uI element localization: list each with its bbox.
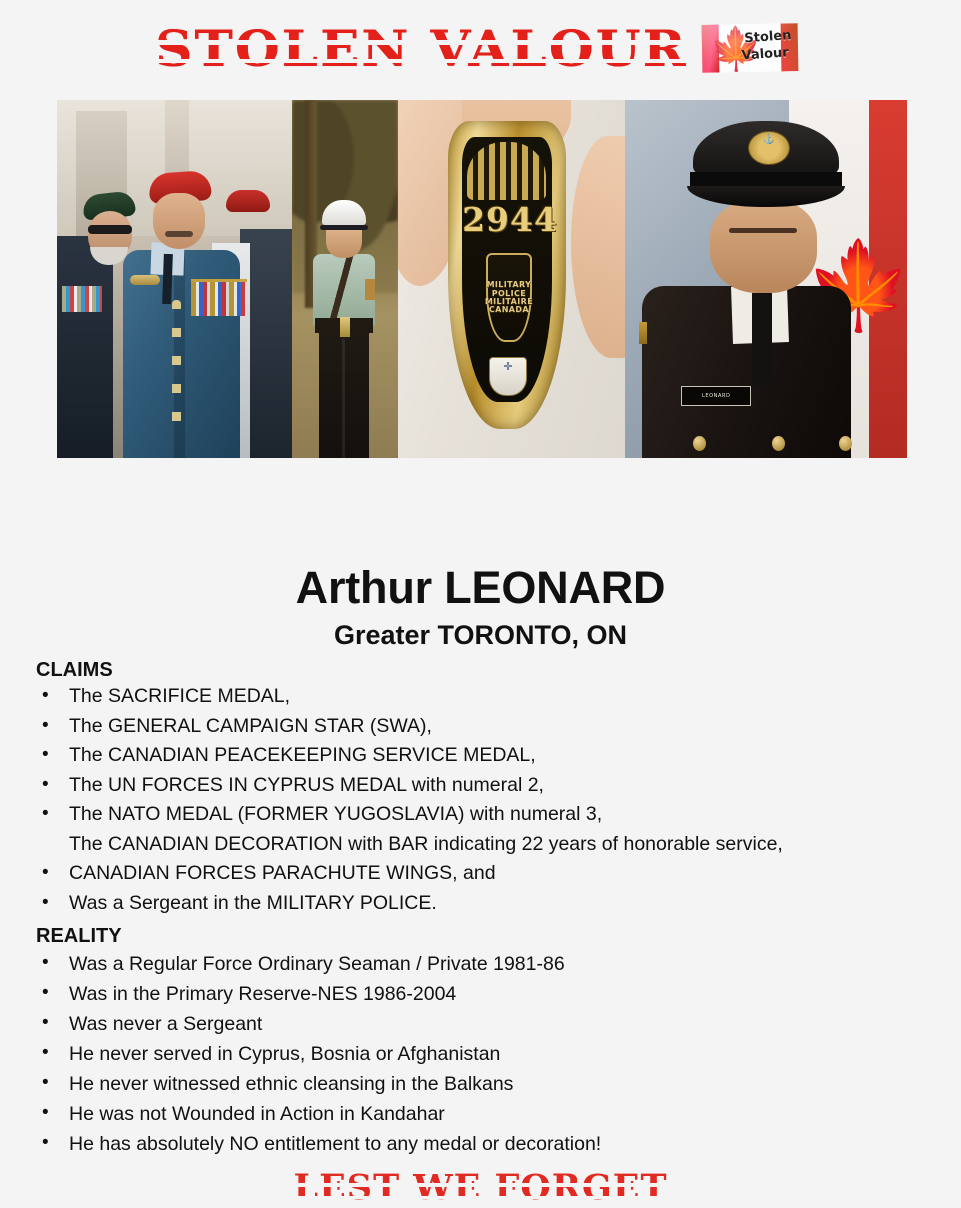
logo-text: Stolen Valour: [744, 27, 793, 64]
ring-number: 2944: [462, 200, 552, 239]
parachute-wings-icon: [130, 275, 160, 285]
photo-young-sailor: [292, 100, 398, 458]
portrait-necktie: [752, 293, 772, 386]
claim-item: The GENERAL CAMPAIGN STAR (SWA),: [36, 712, 961, 742]
claim-item: The CANADIAN PEACEKEEPING SERVICE MEDAL,: [36, 741, 961, 771]
nametag: LEONARD: [681, 386, 751, 406]
jacket-button-1: [693, 436, 706, 451]
uniform-belt: [315, 318, 372, 332]
subject-name: Arthur LEONARD: [0, 560, 961, 616]
claim-item: The SACRIFICE MEDAL,: [36, 682, 961, 712]
photo-strip: 2944 MILITARY POLICE MILITAIRE CANADA 🍁 …: [57, 100, 907, 458]
shield-line-4: CANADA: [489, 306, 529, 314]
portrait-face: [710, 200, 817, 293]
military-police-shield-icon: MILITARY POLICE MILITAIRE CANADA: [486, 253, 531, 342]
stolen-valour-logo: 🍁 Stolen Valour: [701, 23, 798, 73]
reality-heading: REALITY: [36, 925, 961, 948]
shoulder-strap: [324, 254, 360, 326]
claim-item: Was a Sergeant in the MILITARY POLICE.: [36, 889, 961, 919]
nametag-label: LEONARD: [702, 393, 731, 399]
shoulder-patch: [365, 279, 375, 300]
ring-face: 2944 MILITARY POLICE MILITAIRE CANADA: [462, 137, 552, 402]
jacket-button-2: [772, 436, 785, 451]
ring-crown-detail: [467, 142, 546, 200]
page-header: STOLEN VALOUR 🍁 Stolen Valour: [0, 0, 961, 92]
reality-list: Was a Regular Force Ordinary Seaman / Pr…: [0, 948, 961, 1159]
claim-item: The CANADIAN DECORATION with BAR indicat…: [36, 830, 961, 860]
photo-veterans-parade: [57, 100, 292, 458]
parade-figure-left: [57, 236, 113, 458]
claims-list: The SACRIFICE MEDAL,The GENERAL CAMPAIGN…: [0, 682, 961, 918]
reality-item: He never served in Cyprus, Bosnia or Afg…: [36, 1039, 961, 1069]
lest-we-forget-text: LEST WE FORGET: [294, 1167, 668, 1208]
reality-item: He has absolutely NO entitlement to any …: [36, 1129, 961, 1159]
sunglasses-icon: [88, 225, 132, 234]
claim-item: CANADIAN FORCES PARACHUTE WINGS, and: [36, 859, 961, 889]
logo-text-line2: Valour: [741, 44, 793, 65]
rank-slip-on: [639, 322, 647, 344]
red-beret-icon-background: [226, 190, 270, 212]
necktie: [162, 254, 173, 304]
reality-item: Was a Regular Force Ordinary Seaman / Pr…: [36, 949, 961, 979]
reality-item: He never witnessed ethnic cleansing in t…: [36, 1069, 961, 1099]
subject-location: Greater TORONTO, ON: [0, 618, 961, 652]
claim-item: The UN FORCES IN CYPRUS MEDAL with numer…: [36, 771, 961, 801]
medal-rack-main: [191, 279, 247, 316]
reality-item: Was in the Primary Reserve-NES 1986-2004: [36, 979, 961, 1009]
gold-ring: 2944 MILITARY POLICE MILITAIRE CANADA: [448, 121, 566, 429]
veteran-head-main: [153, 193, 205, 249]
photo-formal-portrait: 🍁 LEONARD: [625, 100, 907, 458]
medal-rack-secondary: [62, 286, 102, 312]
claims-heading: CLAIMS: [36, 659, 961, 682]
reality-item: Was never a Sergeant: [36, 1009, 961, 1039]
page-footer: LEST WE FORGET: [0, 1167, 961, 1208]
tunic-buttons: [172, 300, 181, 436]
dark-trousers: [319, 329, 370, 458]
finger-right: [571, 136, 625, 358]
claim-item: The NATO MEDAL (FORMER YUGOSLAVIA) with …: [36, 800, 961, 830]
photo-military-police-ring: 2944 MILITARY POLICE MILITAIRE CANADA: [398, 100, 625, 458]
page-title: STOLEN VALOUR: [155, 19, 687, 78]
cap-badge-icon: [749, 132, 788, 164]
ring-bottom-emblem: [489, 357, 527, 396]
